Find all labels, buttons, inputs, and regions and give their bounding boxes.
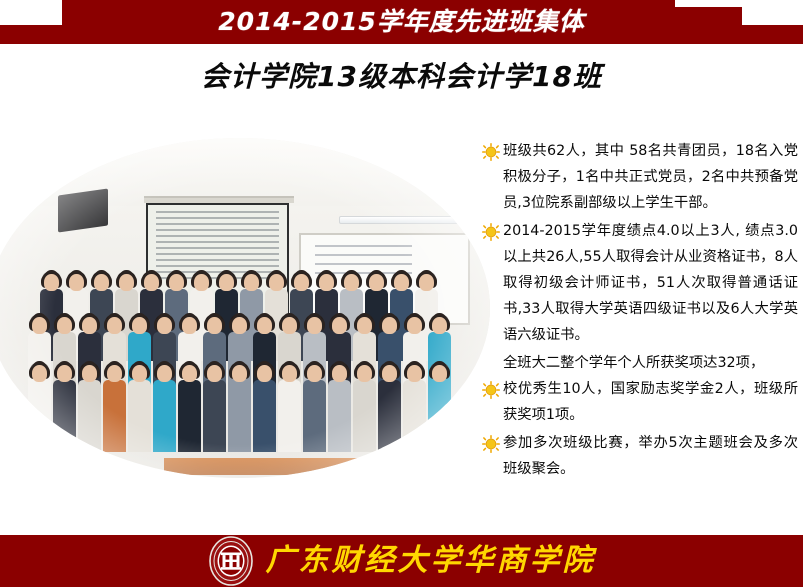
banner-title: 2014-2015学年度先进班集体: [0, 2, 803, 42]
class-group-photo: [0, 138, 490, 478]
list-item: 校优秀生10人，国家励志奖学金2人，班级所获奖项1项。: [482, 376, 798, 428]
page-title: 会计学院13级本科会计学18班: [0, 58, 803, 96]
list-item: 参加多次班级比赛，举办5次主题班会及多次班级聚会。: [482, 430, 798, 482]
sun-icon: [482, 143, 500, 161]
list-item-continuation: 全班大二整个学年个人所获奖项达32项，: [482, 350, 798, 376]
list-item-text: 校优秀生10人，国家励志奖学金2人，班级所获奖项1项。: [503, 376, 798, 428]
list-item: 班级共62人，其中 58名共青团员，18名入党积极分子，1名中共正式党员，2名中…: [482, 138, 798, 216]
sun-icon: [482, 223, 500, 241]
sun-icon: [482, 435, 500, 453]
achievements-list: 班级共62人，其中 58名共青团员，18名入党积极分子，1名中共正式党员，2名中…: [482, 138, 798, 484]
photo-image: [0, 138, 490, 478]
photo-vignette: [0, 138, 490, 478]
poster-canvas: 2014-2015学年度先进班集体 会计学院13级本科会计学18班: [0, 0, 803, 587]
list-item: 2014-2015学年度绩点4.0以上3人, 绩点3.0以上共26人,55人取得…: [482, 218, 798, 348]
university-seal-logo-icon: [208, 536, 254, 586]
list-item-text: 2014-2015学年度绩点4.0以上3人, 绩点3.0以上共26人,55人取得…: [503, 218, 798, 348]
sun-icon: [482, 381, 500, 399]
footer-university-name: 广东财经大学华商学院: [266, 541, 596, 581]
list-item-text: 班级共62人，其中 58名共青团员，18名入党积极分子，1名中共正式党员，2名中…: [503, 138, 798, 216]
list-item-text: 参加多次班级比赛，举办5次主题班会及多次班级聚会。: [503, 430, 798, 482]
footer-bar: 广东财经大学华商学院: [0, 535, 803, 587]
